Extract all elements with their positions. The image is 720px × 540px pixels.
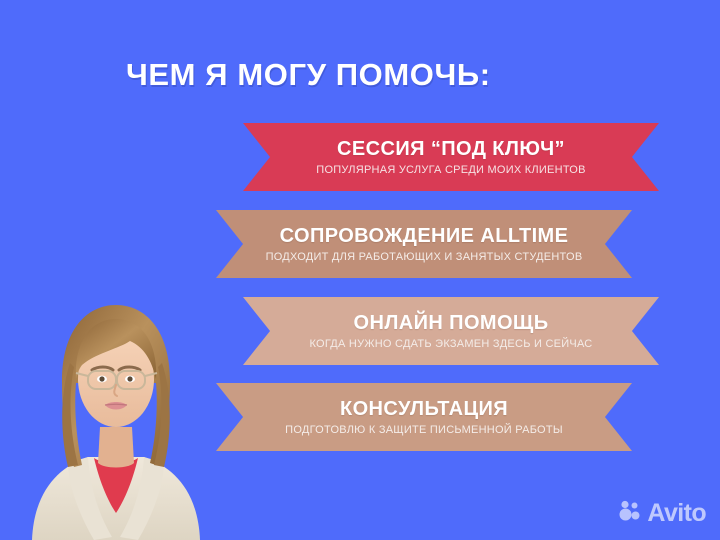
service-ribbon-1[interactable]: СЕССИЯ “ПОД КЛЮЧ” ПОПУЛЯРНАЯ УСЛУГА СРЕД… — [243, 123, 659, 191]
service-ribbon-2[interactable]: СОПРОВОЖДЕНИЕ ALLTIME ПОДХОДИТ ДЛЯ РАБОТ… — [216, 210, 632, 278]
service-ribbon-2-title: СОПРОВОЖДЕНИЕ ALLTIME — [280, 226, 569, 247]
avito-wordmark: Avito — [647, 501, 706, 526]
service-ribbon-3-subtitle: КОГДА НУЖНО СДАТЬ ЭКЗАМЕН ЗДЕСЬ И СЕЙЧАС — [309, 338, 592, 350]
service-ribbon-4-subtitle: ПОДГОТОВЛЮ К ЗАЩИТЕ ПИСЬМЕННОЙ РАБОТЫ — [285, 424, 563, 436]
consultant-photo — [24, 287, 208, 540]
avito-watermark: Avito — [618, 499, 706, 528]
service-ribbon-2-subtitle: ПОДХОДИТ ДЛЯ РАБОТАЮЩИХ И ЗАНЯТЫХ СТУДЕН… — [266, 251, 583, 263]
service-ribbon-3[interactable]: ОНЛАЙН ПОМОЩЬ КОГДА НУЖНО СДАТЬ ЭКЗАМЕН … — [243, 297, 659, 365]
service-ribbon-4-title: КОНСУЛЬТАЦИЯ — [340, 399, 508, 420]
avito-dots-icon — [618, 499, 642, 528]
service-ribbon-1-title: СЕССИЯ “ПОД КЛЮЧ” — [337, 139, 565, 160]
service-ribbon-3-title: ОНЛАЙН ПОМОЩЬ — [354, 313, 549, 334]
service-ribbon-4[interactable]: КОНСУЛЬТАЦИЯ ПОДГОТОВЛЮ К ЗАЩИТЕ ПИСЬМЕН… — [216, 383, 632, 451]
promo-poster: ЧЕМ Я МОГУ ПОМОЧЬ: СЕССИЯ “ПОД КЛЮЧ” ПОП… — [0, 0, 720, 540]
service-ribbon-1-subtitle: ПОПУЛЯРНАЯ УСЛУГА СРЕДИ МОИХ КЛИЕНТОВ — [316, 164, 585, 176]
page-title: ЧЕМ Я МОГУ ПОМОЧЬ: — [126, 57, 491, 93]
